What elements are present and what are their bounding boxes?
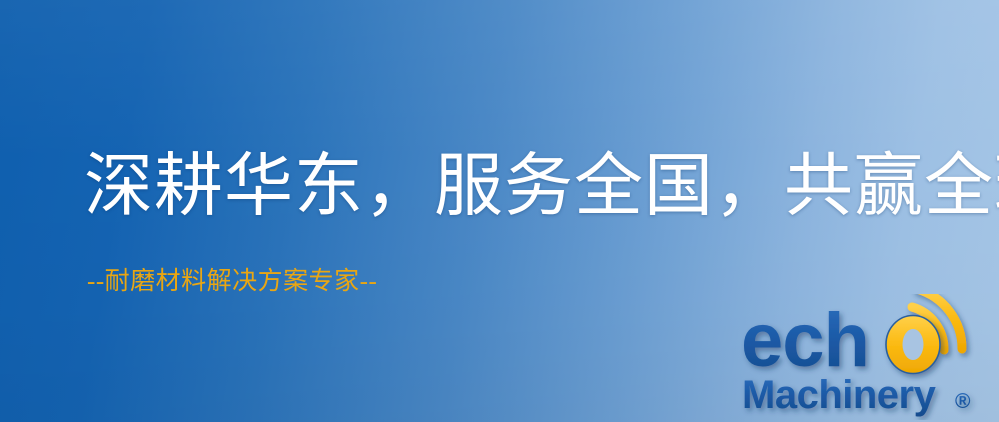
promo-banner: 深耕华东，服务全国，共赢全球 --耐磨材料解决方案专家-- (0, 0, 999, 422)
logo-wordmark-o (886, 316, 940, 374)
svg-text:®: ® (955, 390, 971, 413)
echo-machinery-logo: ech Machinery ® (741, 294, 993, 420)
logo-wordmark-ech: ech (741, 298, 869, 383)
svg-text:ech: ech (741, 298, 869, 383)
banner-subtitle: --耐磨材料解决方案专家-- (87, 268, 377, 296)
banner-headline: 深耕华东，服务全国，共赢全球 (84, 152, 999, 221)
logo-tagline: Machinery ® (742, 373, 971, 417)
svg-text:Machinery: Machinery (742, 373, 937, 417)
